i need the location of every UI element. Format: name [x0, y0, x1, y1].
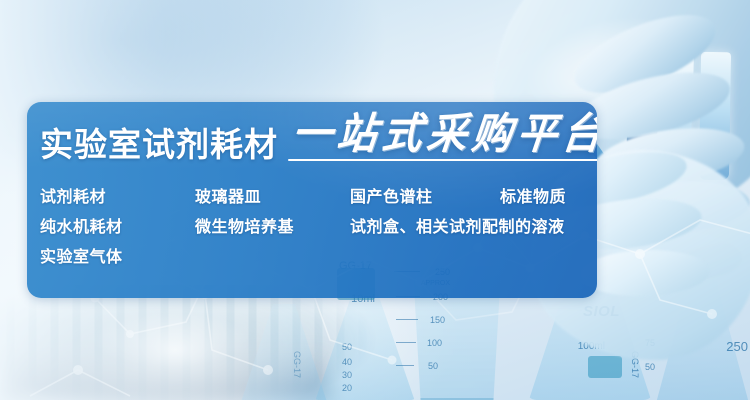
category-row-2: 纯水机耗材 微生物培养基 试剂盒、相关试剂配制的溶液 — [40, 210, 596, 240]
headline-underline — [288, 159, 597, 161]
category-item-microbial-culture-medium[interactable]: 微生物培养基 — [195, 213, 350, 237]
headline-calligraphy-text: 一站式采购平台 — [290, 113, 597, 155]
category-item-reagent-kit-solutions[interactable]: 试剂盒、相关试剂配制的溶液 — [350, 213, 590, 237]
category-item-reagent-consumables[interactable]: 试剂耗材 — [40, 183, 195, 207]
promo-panel: 实验室试剂耗材 一站式采购平台 试剂耗材 玻璃器皿 国产色谱柱 标准物质 纯水机… — [27, 102, 597, 298]
laboratory-reagent-banner: ML M1 CO 250 APPROX 200 150 100 50 — [0, 0, 750, 400]
category-item-water-purifier-consumables[interactable]: 纯水机耗材 — [40, 213, 195, 237]
category-item-glassware[interactable]: 玻璃器皿 — [195, 183, 350, 207]
category-row-1: 试剂耗材 玻璃器皿 国产色谱柱 标准物质 — [40, 180, 596, 210]
category-item-laboratory-gas[interactable]: 实验室气体 — [40, 243, 195, 267]
headline: 实验室试剂耗材 一站式采购平台 — [40, 114, 597, 161]
headline-calligraphy-wrap: 一站式采购平台 — [292, 114, 597, 161]
category-list: 试剂耗材 玻璃器皿 国产色谱柱 标准物质 纯水机耗材 微生物培养基 试剂盒、相关… — [40, 180, 596, 270]
category-row-3: 实验室气体 — [40, 240, 596, 270]
category-item-domestic-chromatography-column[interactable]: 国产色谱柱 — [350, 183, 500, 207]
category-item-reference-material[interactable]: 标准物质 — [500, 183, 590, 207]
headline-main-text: 实验室试剂耗材 — [40, 128, 278, 161]
